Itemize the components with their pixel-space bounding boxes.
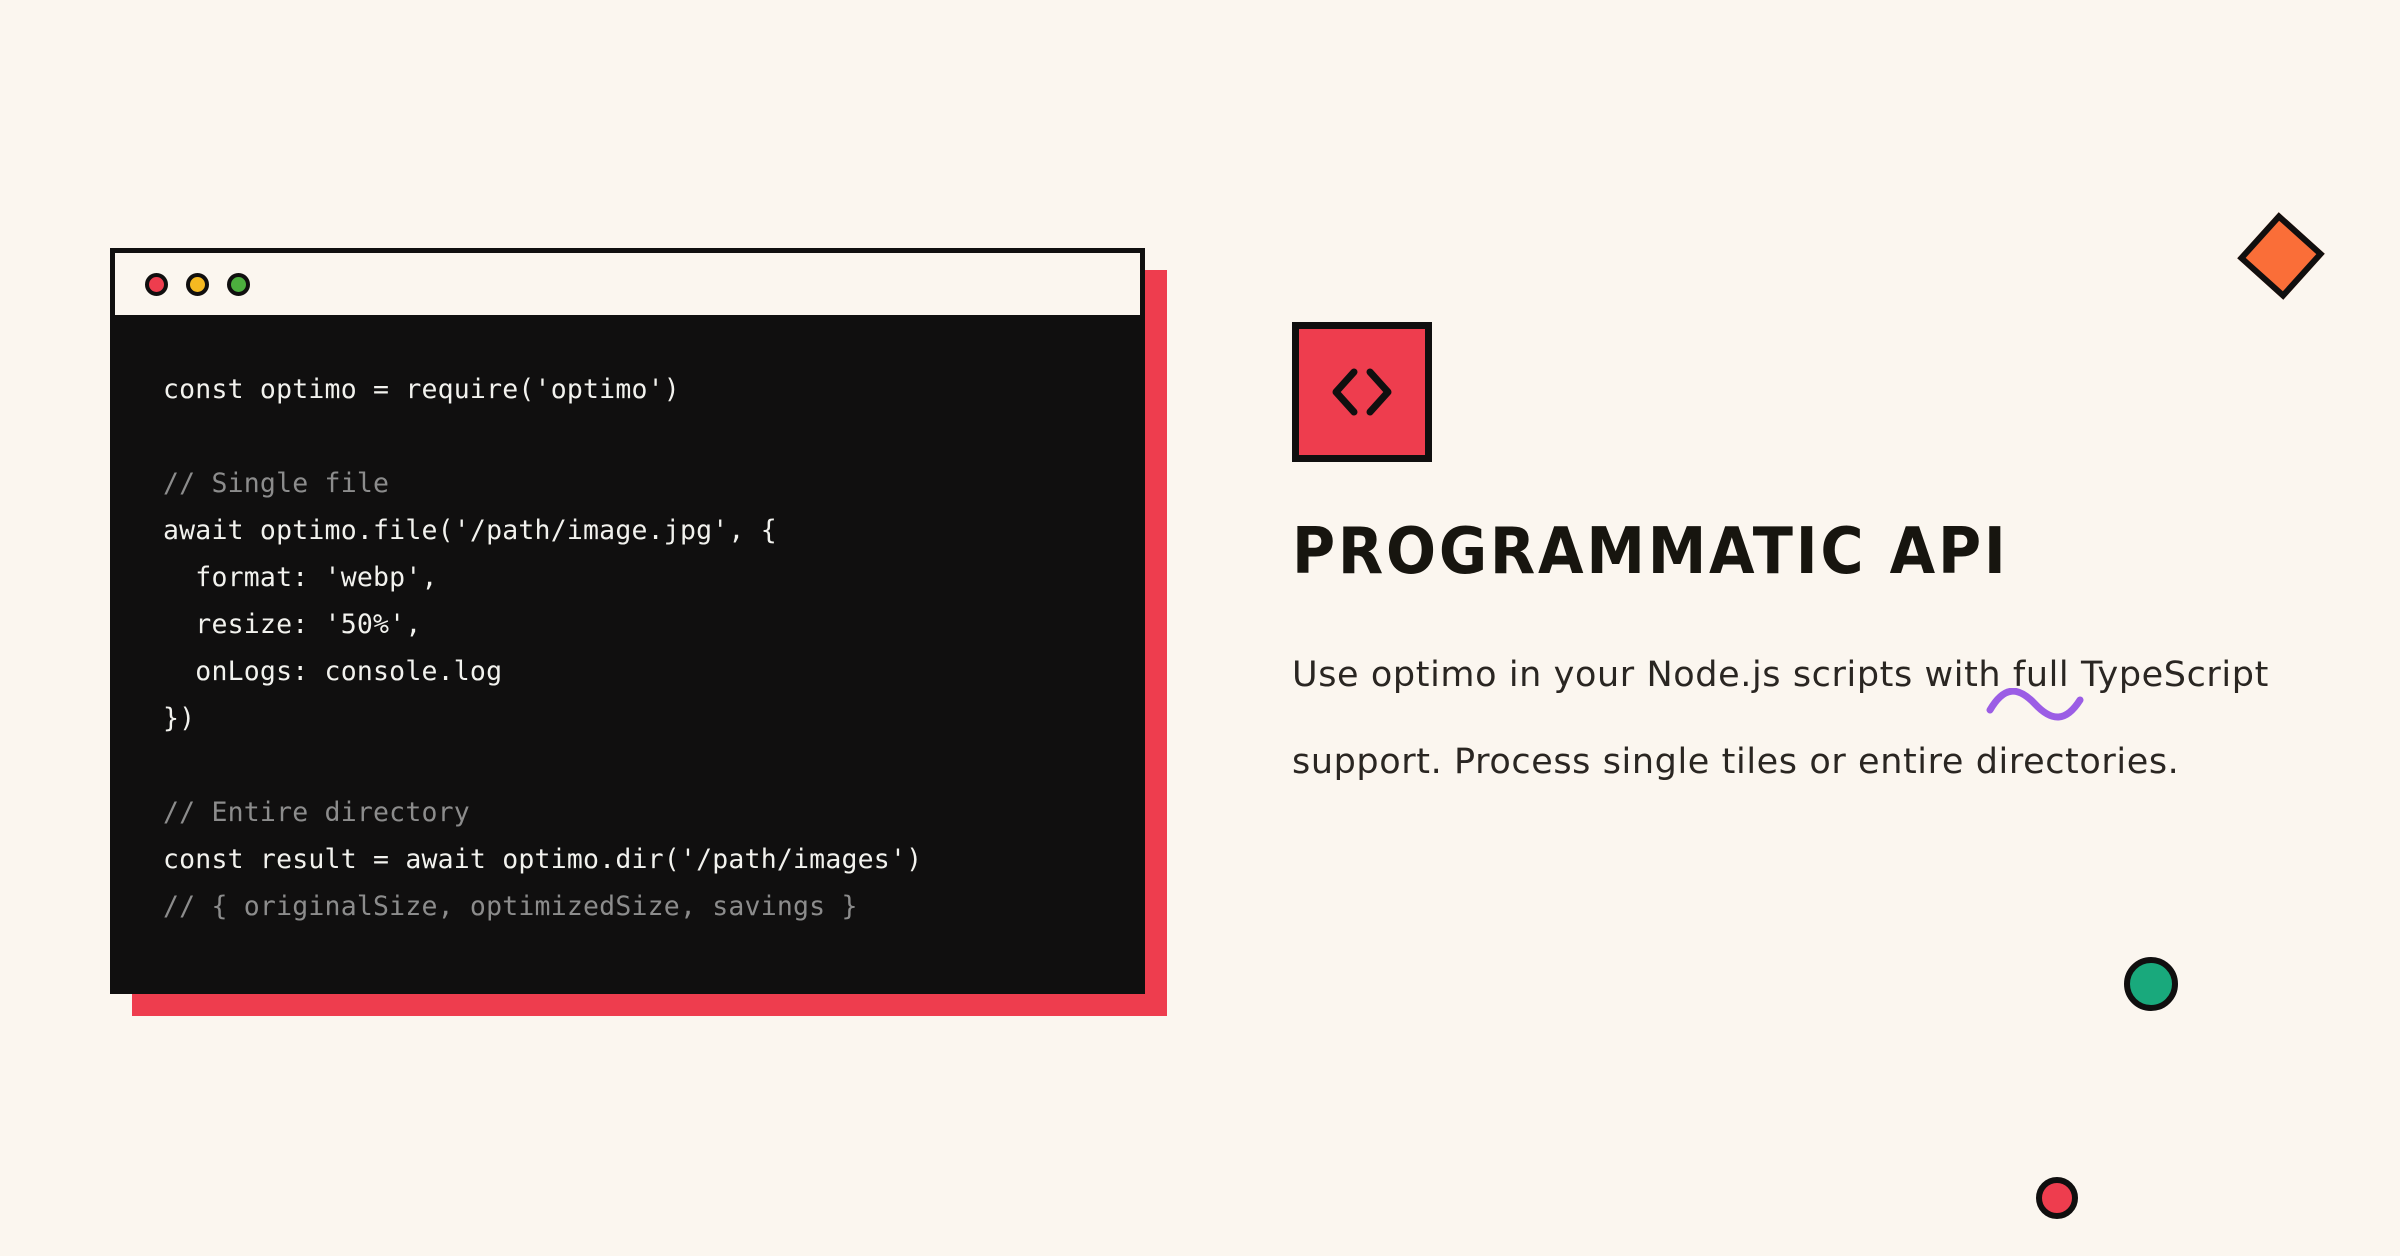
- code-editor-area[interactable]: const optimo = require('optimo') // Sing…: [115, 320, 1140, 989]
- maximize-button[interactable]: [227, 273, 250, 296]
- code-line: // Single file: [163, 460, 1140, 507]
- code-line: [163, 413, 1140, 460]
- purple-squiggle-icon: [1986, 688, 2084, 722]
- code-window-container: const optimo = require('optimo') // Sing…: [110, 248, 1145, 994]
- close-button[interactable]: [145, 273, 168, 296]
- code-line: [163, 742, 1140, 789]
- teal-circle-decoration: [2124, 957, 2178, 1011]
- feature-description-wrap: Use optimo in your Node.js scripts with …: [1292, 632, 2302, 806]
- code-window: const optimo = require('optimo') // Sing…: [110, 248, 1145, 994]
- window-title-bar: [115, 253, 1140, 320]
- code-line: }): [163, 695, 1140, 742]
- feature-title: PROGRAMMATIC API: [1292, 520, 2221, 584]
- slide-canvas: const optimo = require('optimo') // Sing…: [0, 0, 2400, 1256]
- code-line: const result = await optimo.dir('/path/i…: [163, 836, 1140, 883]
- code-line: // Entire directory: [163, 789, 1140, 836]
- code-line: resize: '50%',: [163, 601, 1140, 648]
- orange-diamond-decoration: [2237, 212, 2325, 300]
- red-circle-decoration: [2036, 1177, 2078, 1219]
- minimize-button[interactable]: [186, 273, 209, 296]
- feature-description: Use optimo in your Node.js scripts with …: [1292, 632, 2302, 806]
- code-line: onLogs: console.log: [163, 648, 1140, 695]
- code-brackets-icon: [1292, 322, 1432, 462]
- code-line: const optimo = require('optimo'): [163, 366, 1140, 413]
- code-line: // { originalSize, optimizedSize, saving…: [163, 883, 1140, 930]
- code-line: await optimo.file('/path/image.jpg', {: [163, 507, 1140, 554]
- feature-block: PROGRAMMATIC API Use optimo in your Node…: [1292, 322, 2302, 806]
- code-line: format: 'webp',: [163, 554, 1140, 601]
